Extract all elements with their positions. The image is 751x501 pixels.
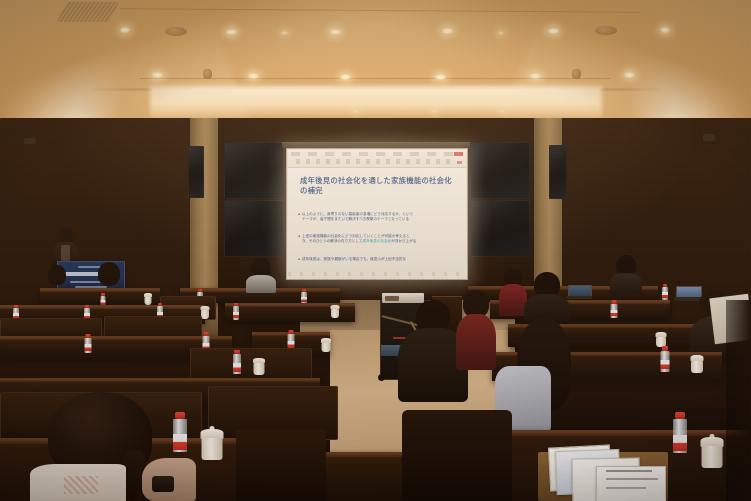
tea-cup	[320, 338, 331, 352]
chair-foreground-right	[402, 410, 512, 501]
slide-status-bar	[288, 272, 466, 276]
slide-bullet-2: 上述の家族機能の社会化にどう対応していくことが可能か考えると き、そのひとつの解…	[302, 234, 457, 245]
slide-bullet-3-line-1: 成年後見は、家族や親族がいる場合でも、後見人が上記不法的な	[302, 257, 457, 262]
slide-bullet-1-line-2: テーマが、省庁間をまたいで解決すべき喫緊のテーマとなっている	[302, 217, 457, 222]
water-bottle	[672, 412, 687, 453]
booklet-text-line	[606, 470, 652, 472]
laptop	[568, 285, 590, 299]
water-bottle	[610, 300, 618, 318]
cove-lighting	[0, 0, 751, 128]
display-panel-left-top	[224, 142, 284, 199]
ceiling	[0, 0, 751, 128]
seated-attendee-head-table-left	[46, 265, 68, 295]
slide-bullet-3: 成年後見は、家族や親族がいる場合でも、後見人が上記不法的な	[302, 257, 457, 262]
water-bottle	[232, 303, 239, 320]
cup-body	[144, 297, 151, 305]
downlight-icon	[660, 27, 670, 33]
slide-bullet-2-pre: き、そのひとつの解決の在り方として	[302, 239, 362, 243]
downlight-icon	[281, 31, 288, 35]
water-bottle	[232, 350, 241, 374]
attendee-far-center	[246, 258, 276, 292]
air-vent-grille	[57, 2, 120, 22]
wall-speaker-right	[703, 134, 715, 141]
attendee-torso	[499, 284, 527, 316]
slide-title: 成年後見の社会化を通した家族機能の社会化 の補完	[300, 176, 456, 196]
water-bottle	[84, 334, 92, 353]
tea-cup	[690, 355, 704, 373]
attendee-far-right	[610, 255, 642, 293]
lecture-hall-photo: 成年後見の社会化を通した家族機能の社会化 の補完 以上のように、身寄りのない高齢…	[0, 0, 751, 501]
downlight-icon	[442, 28, 453, 34]
desk-edge-right	[726, 300, 751, 501]
downlight-icon	[120, 27, 130, 33]
seated-attendee-head-table-right	[96, 262, 122, 296]
slide-title-line-1: 成年後見の社会化を通した家族機能の社会化	[300, 176, 456, 186]
attendee-foreground-braid	[24, 392, 194, 501]
cove-light-bottom	[150, 86, 602, 120]
tea-cup	[143, 293, 152, 305]
display-panel-left-bottom	[224, 200, 284, 257]
slide-title-line-2: の補完	[300, 186, 456, 196]
ribbon-accent	[454, 152, 463, 156]
downlight-icon	[248, 73, 259, 79]
downlight-icon	[498, 31, 504, 35]
attendee-head	[98, 262, 120, 286]
water-bottle	[660, 346, 670, 372]
booklet-text-line	[606, 478, 658, 480]
attendee-torso	[246, 275, 276, 293]
blouse-embroidery	[64, 476, 98, 494]
downlight-icon	[226, 29, 237, 35]
chair-foreground-center	[236, 430, 326, 501]
ribbon-toolbar-icons	[296, 159, 452, 164]
attendee-head	[48, 265, 66, 285]
ceiling-speaker-icon	[595, 26, 617, 35]
display-panel-right-top	[470, 142, 530, 199]
water-bottle	[287, 330, 295, 350]
downlight-icon	[152, 72, 163, 78]
slide-bullet-2-line-2: き、そのひとつの解決の在り方として成年後見の社会化が浮かび上がる	[302, 239, 457, 244]
downlight-icon	[500, 110, 505, 113]
ribbon-tabs	[291, 152, 463, 156]
attendee-torso	[610, 273, 642, 295]
tea-cup	[700, 436, 724, 468]
downlight-icon	[432, 110, 437, 113]
attendee-torso	[456, 314, 496, 370]
screen-surface: 成年後見の社会化を通した家族機能の社会化 の補完 以上のように、身寄りのない高齢…	[286, 148, 468, 280]
display-panel-right-bottom	[470, 200, 530, 257]
projector-lens-icon	[385, 296, 399, 301]
wall-tv-right	[549, 145, 567, 199]
downlight-icon	[548, 28, 559, 34]
projection-screen: 成年後見の社会化を通した家族機能の社会化 の補完 以上のように、身寄りのない高齢…	[286, 148, 466, 278]
ceiling-speaker-icon	[165, 27, 187, 36]
tea-cup	[655, 332, 667, 347]
tea-cup	[330, 305, 340, 318]
presentation-slide: 成年後見の社会化を通した家族機能の社会化 の補完 以上のように、身寄りのない高齢…	[288, 150, 466, 278]
downlight-icon	[435, 74, 446, 80]
wall-speaker-left	[24, 138, 36, 144]
wall-tv-left	[188, 146, 204, 198]
tea-cup	[200, 428, 224, 460]
water-bottle	[300, 289, 307, 304]
ribbon-accent-secondary	[457, 161, 462, 164]
attendee-center-red	[455, 290, 497, 368]
slide-bullet-2-highlight: 成年後見の社会化	[362, 239, 391, 243]
wrist-watch	[152, 476, 174, 492]
downlight-icon	[340, 74, 351, 80]
downlight-icon	[330, 29, 341, 35]
tea-cup	[252, 358, 265, 375]
downlight-icon	[624, 72, 635, 78]
downlight-icon	[530, 73, 541, 79]
downlight-icon	[353, 110, 358, 113]
cart-caster-icon	[378, 374, 385, 381]
ceiling-speaker-icon	[203, 69, 212, 79]
ceiling-speaker-icon	[572, 69, 581, 79]
slide-bullet-1: 以上のように、身寄りのない高齢者の急増にどう対応するか、という テーマが、省庁間…	[302, 212, 457, 223]
slide-bullet-2-post: が浮かび上がる	[391, 239, 416, 243]
booklet-text-line	[606, 487, 646, 489]
presentation-ribbon	[288, 150, 466, 168]
spacer	[0, 118, 2, 120]
water-bottle	[661, 284, 668, 300]
